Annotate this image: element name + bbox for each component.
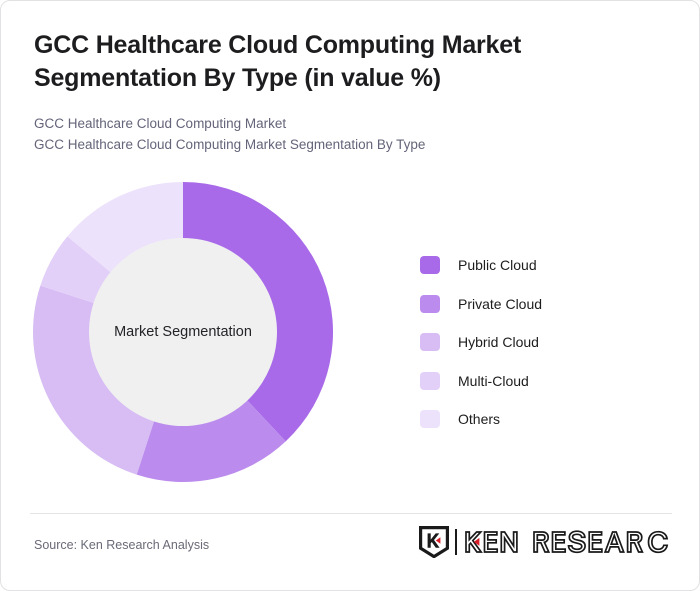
chart-area: Market Segmentation Public CloudPrivate … bbox=[1, 171, 700, 496]
donut-chart: Market Segmentation bbox=[33, 182, 333, 482]
chart-legend: Public CloudPrivate CloudHybrid CloudMul… bbox=[420, 246, 542, 439]
legend-item[interactable]: Multi-Cloud bbox=[420, 362, 542, 401]
chart-header: GCC Healthcare Cloud Computing Market Se… bbox=[34, 29, 634, 156]
legend-swatch bbox=[420, 256, 440, 274]
subtitle-block: GCC Healthcare Cloud Computing Market GC… bbox=[34, 113, 634, 156]
legend-swatch bbox=[420, 410, 440, 428]
footer-divider bbox=[30, 513, 672, 514]
legend-item-label: Multi-Cloud bbox=[458, 373, 529, 389]
legend-item[interactable]: Hybrid Cloud bbox=[420, 323, 542, 362]
legend-swatch bbox=[420, 372, 440, 390]
donut-hole bbox=[89, 238, 277, 426]
legend-item[interactable]: Others bbox=[420, 400, 542, 439]
legend-item-label: Hybrid Cloud bbox=[458, 334, 539, 350]
ken-research-wordmark bbox=[464, 529, 670, 555]
legend-swatch bbox=[420, 295, 440, 313]
donut-svg bbox=[33, 182, 333, 482]
ken-research-logo bbox=[419, 525, 670, 559]
legend-item[interactable]: Private Cloud bbox=[420, 285, 542, 324]
legend-item-label: Private Cloud bbox=[458, 296, 542, 312]
legend-item[interactable]: Public Cloud bbox=[420, 246, 542, 285]
subtitle-line-1: GCC Healthcare Cloud Computing Market bbox=[34, 113, 634, 134]
logo-divider bbox=[455, 529, 457, 555]
legend-swatch bbox=[420, 333, 440, 351]
subtitle-line-2: GCC Healthcare Cloud Computing Market Se… bbox=[34, 134, 634, 155]
chart-card: GCC Healthcare Cloud Computing Market Se… bbox=[0, 0, 700, 591]
legend-item-label: Public Cloud bbox=[458, 257, 537, 273]
legend-item-label: Others bbox=[458, 411, 500, 427]
source-note: Source: Ken Research Analysis bbox=[34, 538, 209, 552]
page-title: GCC Healthcare Cloud Computing Market Se… bbox=[34, 29, 554, 95]
ken-research-shield-icon bbox=[419, 526, 449, 558]
